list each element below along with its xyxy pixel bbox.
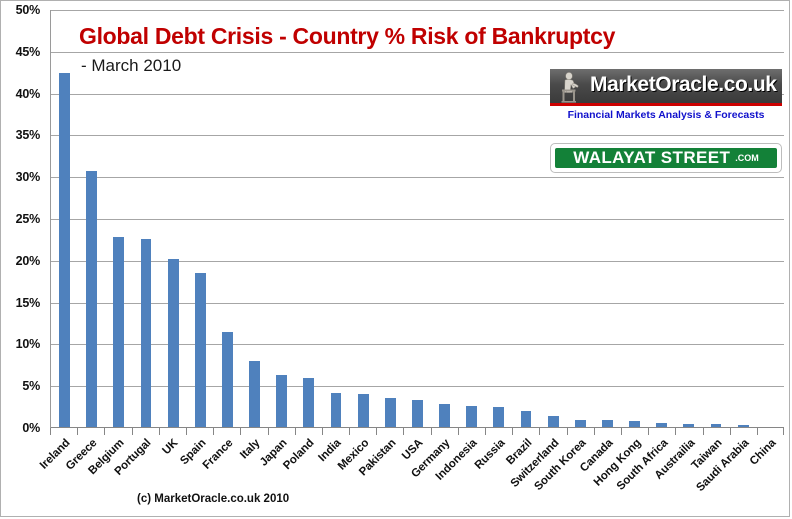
x-axis-tick [730,428,757,435]
walayat-street-sign: WALAYAT STREET .COM [553,146,779,170]
bar-slot [350,10,377,428]
x-axis-label-slot: Russia [485,435,512,515]
y-axis-tick-label: 10% [16,337,40,351]
bar[interactable] [331,393,342,428]
x-axis-tick [104,428,131,435]
bar[interactable] [141,239,152,428]
x-axis-ticks [50,428,784,435]
market-oracle-logo-bar: MarketOracle.co.uk [550,69,782,103]
x-axis-tick [268,428,295,435]
x-axis-tick [512,428,539,435]
y-axis-tick-label: 45% [16,45,40,59]
market-oracle-logo[interactable]: MarketOracle.co.uk Financial Markets Ana… [550,69,782,125]
x-axis-label: UK [161,437,181,457]
x-axis-tick [132,428,159,435]
x-axis-tick [240,428,267,435]
x-axis-tick [322,428,349,435]
x-axis-label-slot: India [322,435,349,515]
bar[interactable] [439,404,450,428]
x-axis-label-slot: Indonesia [458,435,485,515]
x-axis-label-slot: Austrailia [675,435,702,515]
x-axis-tick [159,428,186,435]
bar-slot [322,10,349,428]
oracle-figure-icon [554,69,588,103]
y-axis-tick-label: 50% [16,3,40,17]
x-axis-label-slot: China [757,435,784,515]
x-axis-tick [567,428,594,435]
x-axis-tick [539,428,566,435]
x-axis-label-slot: Pakistan [376,435,403,515]
x-axis-tick [403,428,430,435]
y-axis-tick-label: 35% [16,128,40,142]
y-axis-tick-label: 40% [16,87,40,101]
chart-subtitle: - March 2010 [81,56,181,76]
bar-slot [404,10,431,428]
bar[interactable] [168,259,179,428]
x-axis-tick [458,428,485,435]
bar[interactable] [59,73,70,428]
x-axis-tick [703,428,730,435]
x-axis-label-slot: South Korea [567,435,594,515]
walayat-street-name: WALAYAT STREET [573,148,730,168]
x-axis-tick-end [783,428,784,435]
bar[interactable] [493,407,504,428]
bar-slot [512,10,539,428]
market-oracle-tagline: Financial Markets Analysis & Forecasts [550,106,782,121]
x-axis-tick [621,428,648,435]
x-axis-tick [431,428,458,435]
x-axis-label-slot: Ireland [50,435,77,515]
x-axis-tick [295,428,322,435]
x-axis-tick [485,428,512,435]
x-axis-tick [376,428,403,435]
bar[interactable] [385,398,396,428]
x-axis-tick [77,428,104,435]
x-axis-tick [648,428,675,435]
bar[interactable] [86,171,97,428]
y-axis-tick-label: 30% [16,170,40,184]
bar-slot [431,10,458,428]
bar[interactable] [276,375,287,428]
bar[interactable] [466,406,477,428]
bar-slot [377,10,404,428]
y-axis-tick-label: 15% [16,296,40,310]
x-axis-tick [757,428,784,435]
bar-slot [214,10,241,428]
bar-slot [241,10,268,428]
bar-slot [458,10,485,428]
x-axis-tick [186,428,213,435]
walayat-street-suffix: .COM [735,153,759,163]
x-axis-label-slot: Saudi Arabia [730,435,757,515]
bar-slot [187,10,214,428]
market-oracle-name: MarketOracle.co.uk [590,73,777,97]
bar-slot [485,10,512,428]
y-axis-tick-label: 25% [16,212,40,226]
x-axis-tick [213,428,240,435]
chart-container: 50%45%40%35%30%25%20%15%10%5%0% IrelandG… [0,0,790,517]
chart-title: Global Debt Crisis - Country % Risk of B… [79,23,615,50]
y-axis-tick-label: 0% [22,421,40,435]
bar-slot [295,10,322,428]
walayat-street-logo[interactable]: WALAYAT STREET .COM [550,143,782,173]
bar[interactable] [412,400,423,428]
y-axis-tick-label: 20% [16,254,40,268]
x-axis-tick [675,428,702,435]
y-axis-tick-label: 5% [22,379,40,393]
x-axis-label-slot: Poland [295,435,322,515]
y-axis: 50%45%40%35%30%25%20%15%10%5%0% [1,1,48,441]
x-axis-tick [594,428,621,435]
bar[interactable] [303,378,314,428]
x-axis-tick [50,428,77,435]
bar-slot [51,10,78,428]
x-axis-tick [349,428,376,435]
bar[interactable] [358,394,369,428]
bar[interactable] [222,332,233,428]
x-axis-label-slot: Greece [77,435,104,515]
copyright-notice: (c) MarketOracle.co.uk 2010 [137,493,289,505]
bar[interactable] [249,361,260,428]
bar[interactable] [113,237,124,428]
bar-slot [268,10,295,428]
bar[interactable] [195,273,206,428]
bar[interactable] [521,411,532,428]
